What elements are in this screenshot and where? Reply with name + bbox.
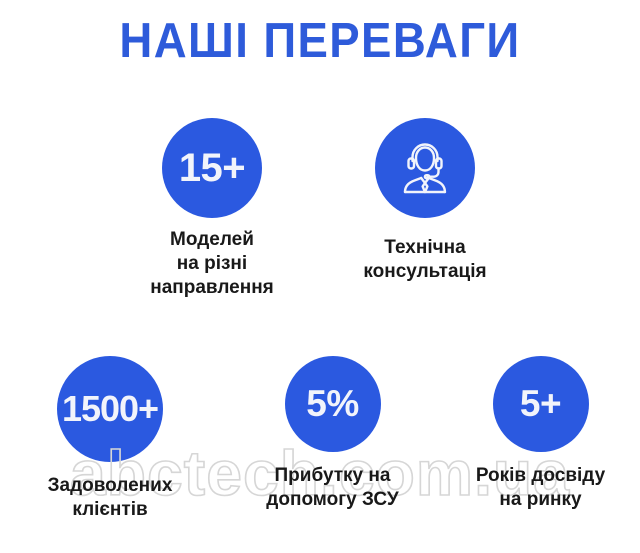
stat-caption-profit: Прибутку на допомогу ЗСУ bbox=[266, 464, 398, 512]
headset-support-icon bbox=[393, 136, 457, 200]
stat-value-clients: 1500+ bbox=[62, 389, 158, 429]
stat-value-models: 15+ bbox=[179, 148, 245, 188]
stat-block-clients: 1500+ Задоволених клієнтів bbox=[10, 356, 210, 522]
stat-circle-support bbox=[375, 118, 475, 218]
stat-circle-profit: 5% bbox=[285, 356, 381, 452]
stat-caption-years: Років досвіду на ринку bbox=[476, 464, 605, 512]
stat-block-profit: 5% Прибутку на допомогу ЗСУ bbox=[240, 356, 425, 512]
stat-block-years: 5+ Років досвіду на ринку bbox=[448, 356, 633, 512]
page-title: НАШІ ПЕРЕВАГИ bbox=[22, 14, 617, 68]
stat-value-profit: 5% bbox=[306, 384, 358, 424]
stat-caption-models: Моделей на різні направлення bbox=[150, 228, 274, 300]
stat-block-support: Технічна консультація bbox=[330, 118, 520, 284]
stat-circle-years: 5+ bbox=[493, 356, 589, 452]
advantages-infographic: НАШІ ПЕРЕВАГИ 15+ Моделей на різні напра… bbox=[0, 0, 640, 553]
stat-block-models: 15+ Моделей на різні направлення bbox=[112, 118, 312, 300]
stat-caption-clients: Задоволених клієнтів bbox=[48, 474, 173, 522]
stat-circle-clients: 1500+ bbox=[57, 356, 163, 462]
stat-value-years: 5+ bbox=[520, 384, 561, 424]
stat-caption-support: Технічна консультація bbox=[363, 236, 486, 284]
stat-circle-models: 15+ bbox=[162, 118, 262, 218]
